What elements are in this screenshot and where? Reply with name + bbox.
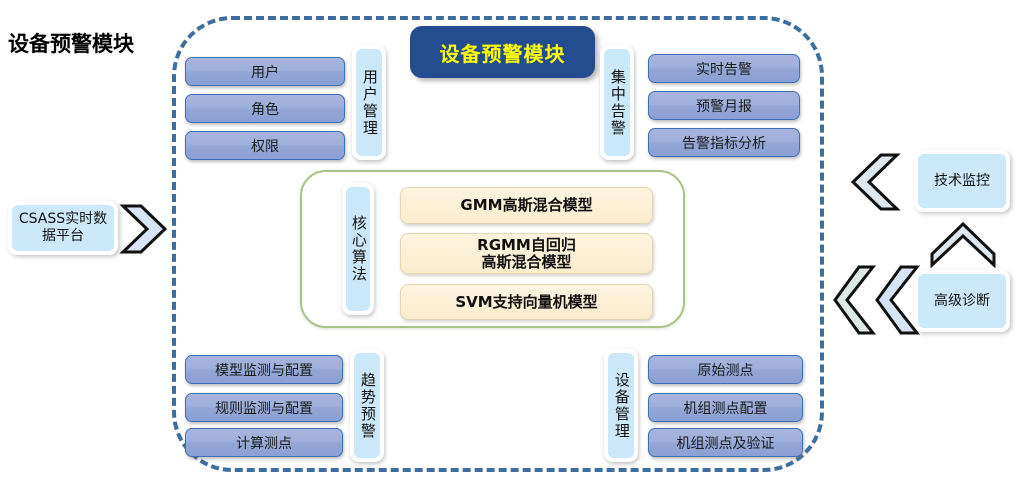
button-permission[interactable]: 权限 bbox=[185, 131, 345, 160]
button-alarm-index-analysis[interactable]: 告警指标分析 bbox=[648, 128, 800, 157]
button-calculated-point[interactable]: 计算测点 bbox=[185, 428, 343, 457]
group-label-device-management: 设备管理 bbox=[604, 349, 638, 462]
source-platform-label: CSASS实时数据平台 bbox=[12, 205, 114, 251]
group-label-user-management-text: 用户管理 bbox=[361, 69, 377, 137]
button-role[interactable]: 角色 bbox=[185, 94, 345, 123]
group-label-central-alarm-text: 集中告警 bbox=[609, 69, 625, 137]
button-realtime-alarm[interactable]: 实时告警 bbox=[648, 54, 800, 83]
button-model-monitor-config[interactable]: 模型监测与配置 bbox=[185, 355, 343, 384]
chevron-up-icon bbox=[928, 220, 998, 268]
group-label-user-management: 用户管理 bbox=[352, 45, 386, 160]
module-title-badge: 设备预警模块 bbox=[410, 26, 595, 78]
diagram-canvas: 设备预警模块 CSASS实时数据平台 设备预警模块 用户 角色 权限 用户管理 … bbox=[0, 0, 1022, 495]
button-unit-point-verification[interactable]: 机组测点及验证 bbox=[648, 428, 803, 457]
output-label-technical-monitoring: 技术监控 bbox=[918, 154, 1006, 208]
group-label-core-algorithm: 核心算法 bbox=[342, 183, 374, 315]
source-platform-box: CSASS实时数据平台 bbox=[8, 201, 118, 255]
output-box-advanced-diagnosis: 高级诊断 bbox=[914, 270, 1010, 332]
group-label-device-management-text: 设备管理 bbox=[613, 372, 629, 440]
algorithm-gmm[interactable]: GMM高斯混合模型 bbox=[400, 187, 653, 224]
button-monthly-warning-report[interactable]: 预警月报 bbox=[648, 91, 800, 120]
button-rule-monitor-config[interactable]: 规则监测与配置 bbox=[185, 393, 343, 422]
chevron-right-icon bbox=[119, 203, 167, 255]
output-box-technical-monitoring: 技术监控 bbox=[914, 150, 1010, 212]
algorithm-rgmm-label: RGMM自回归高斯混合模型 bbox=[477, 237, 576, 271]
group-label-trend-warning: 趋势预警 bbox=[350, 349, 384, 462]
group-label-trend-warning-text: 趋势预警 bbox=[359, 372, 375, 440]
group-label-central-alarm: 集中告警 bbox=[600, 45, 634, 160]
group-label-core-algorithm-text: 核心算法 bbox=[350, 215, 366, 283]
algorithm-svm[interactable]: SVM支持向量机模型 bbox=[400, 284, 653, 320]
button-original-point[interactable]: 原始测点 bbox=[648, 355, 803, 384]
algorithm-rgmm[interactable]: RGMM自回归高斯混合模型 bbox=[400, 233, 653, 274]
page-title: 设备预警模块 bbox=[8, 28, 134, 58]
button-unit-point-config[interactable]: 机组测点配置 bbox=[648, 393, 803, 422]
output-label-advanced-diagnosis: 高级诊断 bbox=[918, 274, 1006, 328]
button-user[interactable]: 用户 bbox=[185, 57, 345, 86]
chevron-left-icon bbox=[845, 152, 905, 212]
